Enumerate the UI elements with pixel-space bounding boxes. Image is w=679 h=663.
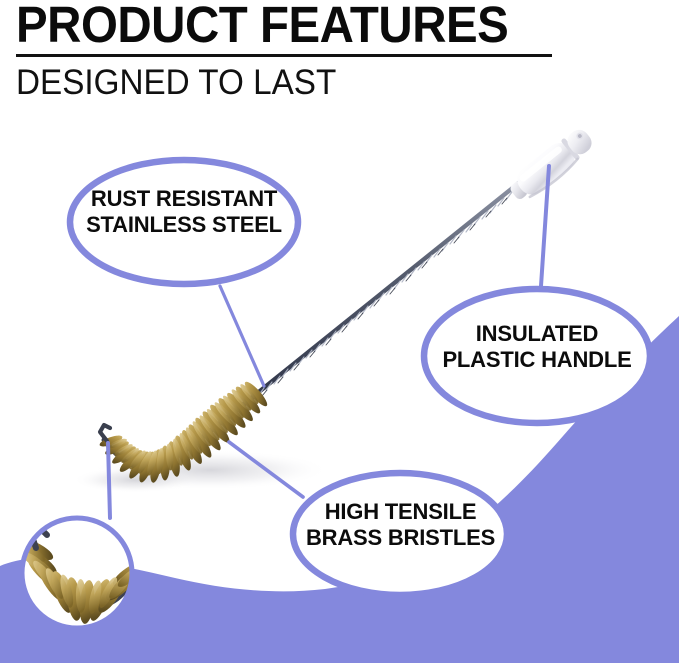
artwork-layer (0, 0, 679, 663)
callout-ellipse-brass-bristles (293, 473, 507, 595)
callout-ellipse-insulated-handle (424, 289, 650, 423)
leader-line-rust-resistant (220, 286, 264, 386)
product-features-infographic: PRODUCT FEATURES DESIGNED TO LAST (0, 0, 679, 663)
insulated-plastic-handle (505, 124, 598, 206)
callout-ellipse-rust-resistant (70, 160, 298, 284)
